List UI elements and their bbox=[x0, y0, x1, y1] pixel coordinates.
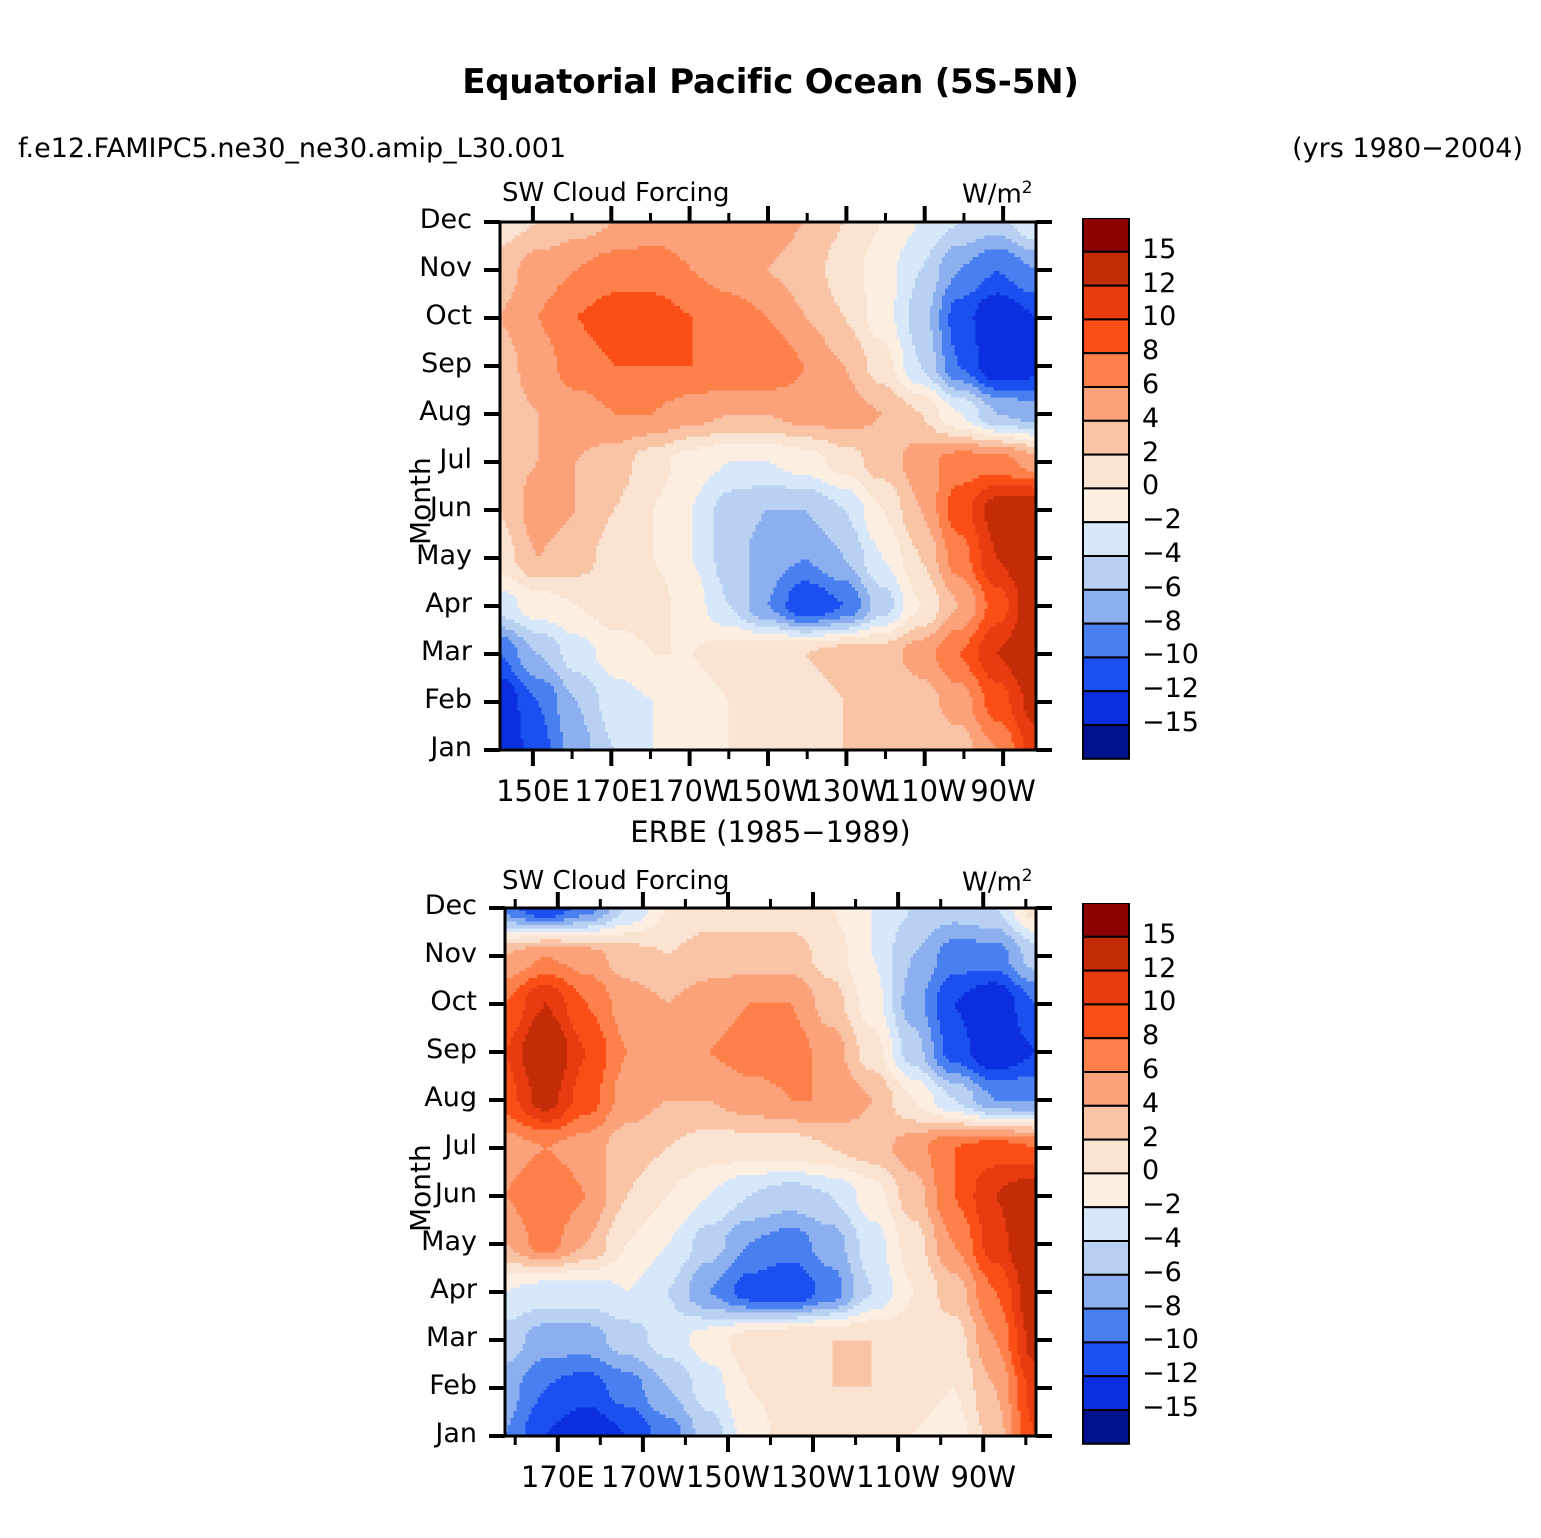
colorbar-tick-label: −4 bbox=[1142, 1223, 1182, 1254]
month-tick-label: Mar bbox=[385, 1322, 477, 1353]
month-tick-label: Jul bbox=[385, 1130, 477, 1161]
colorbar-tick-label: 10 bbox=[1142, 986, 1176, 1017]
colorbar-tick-label: −12 bbox=[1142, 1358, 1199, 1389]
colorbar-tick-label: 0 bbox=[1142, 1155, 1159, 1186]
units-exponent: 2 bbox=[1022, 866, 1033, 886]
month-tick-label: Oct bbox=[385, 986, 477, 1017]
colorbar-tick-label: 4 bbox=[1142, 1088, 1159, 1119]
colorbar-tick-label: 12 bbox=[1142, 953, 1176, 984]
colorbar-tick-label: 6 bbox=[1142, 1054, 1159, 1085]
colorbar-tick-label: −8 bbox=[1142, 1291, 1182, 1322]
month-tick-label: May bbox=[385, 1226, 477, 1257]
month-tick-label: Nov bbox=[385, 938, 477, 969]
panel-obs: SW Cloud Forcing W/m2 Month 15121086420−… bbox=[0, 0, 1541, 1538]
panel-obs-colorbar bbox=[1081, 903, 1141, 1463]
colorbar-tick-label: 2 bbox=[1142, 1122, 1159, 1153]
colorbar-tick-label: −2 bbox=[1142, 1189, 1182, 1220]
colorbar-tick-label: −6 bbox=[1142, 1257, 1182, 1288]
colorbar-tick-label: 15 bbox=[1142, 919, 1176, 950]
longitude-tick-label: 90W bbox=[913, 1460, 1053, 1494]
month-tick-label: Dec bbox=[385, 890, 477, 921]
panel-obs-plot bbox=[0, 888, 1060, 1488]
colorbar-tick-label: 8 bbox=[1142, 1020, 1159, 1051]
month-tick-label: Sep bbox=[385, 1034, 477, 1065]
month-tick-label: Feb bbox=[385, 1370, 477, 1401]
month-tick-label: Apr bbox=[385, 1274, 477, 1305]
month-tick-label: Jan bbox=[385, 1418, 477, 1449]
colorbar-tick-label: −10 bbox=[1142, 1324, 1199, 1355]
month-tick-label: Jun bbox=[385, 1178, 477, 1209]
colorbar-tick-label: −15 bbox=[1142, 1392, 1199, 1423]
month-tick-label: Aug bbox=[385, 1082, 477, 1113]
